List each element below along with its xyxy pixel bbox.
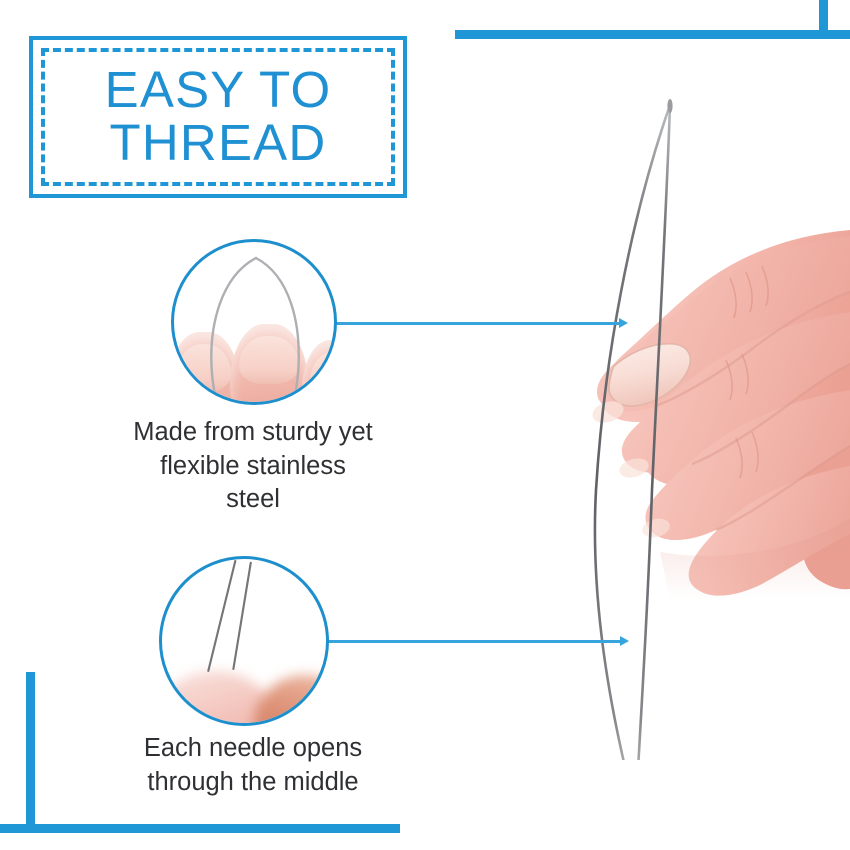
bottom-left-bracket-vertical xyxy=(26,672,35,833)
hand-shape xyxy=(590,230,850,600)
callout-two-circle-inset xyxy=(159,556,329,726)
callout-one-connector-line xyxy=(336,322,621,325)
headline-line-2: THREAD xyxy=(110,117,327,170)
fingernail-right xyxy=(310,352,337,400)
needle-split-closeup-art xyxy=(162,559,326,723)
callout-one-caption-line-3: steel xyxy=(72,483,434,517)
callout-one-caption-line-2: flexible stainless xyxy=(72,450,434,484)
headline-badge-dashed-frame: EASY TO THREAD xyxy=(41,48,395,186)
bottom-left-bracket-horizontal xyxy=(0,824,400,833)
callout-one-circle-inset xyxy=(171,239,337,405)
callout-one-caption-line-1: Made from sturdy yet xyxy=(72,416,434,450)
needle-split-wires xyxy=(162,559,326,723)
headline-badge: EASY TO THREAD xyxy=(29,36,407,198)
callout-one-caption: Made from sturdy yet flexible stainless … xyxy=(72,416,434,517)
callout-two-connector-line xyxy=(327,640,622,643)
callout-two-connector-arrow-icon xyxy=(620,636,629,646)
product-feature-graphic: EASY TO THREAD xyxy=(0,0,850,850)
top-right-bracket-vertical xyxy=(819,0,828,36)
fingertips-closeup-art xyxy=(174,242,334,402)
hand-holding-needle-photo xyxy=(430,60,850,760)
needle-loop-closeup xyxy=(202,254,310,405)
callout-two-caption: Each needle opens through the middle xyxy=(72,732,434,799)
callout-two-caption-line-2: through the middle xyxy=(72,766,434,800)
callout-one-connector-arrow-icon xyxy=(619,318,628,328)
headline-line-1: EASY TO xyxy=(105,64,332,117)
top-right-bracket-horizontal xyxy=(455,30,850,39)
callout-two-caption-line-1: Each needle opens xyxy=(72,732,434,766)
